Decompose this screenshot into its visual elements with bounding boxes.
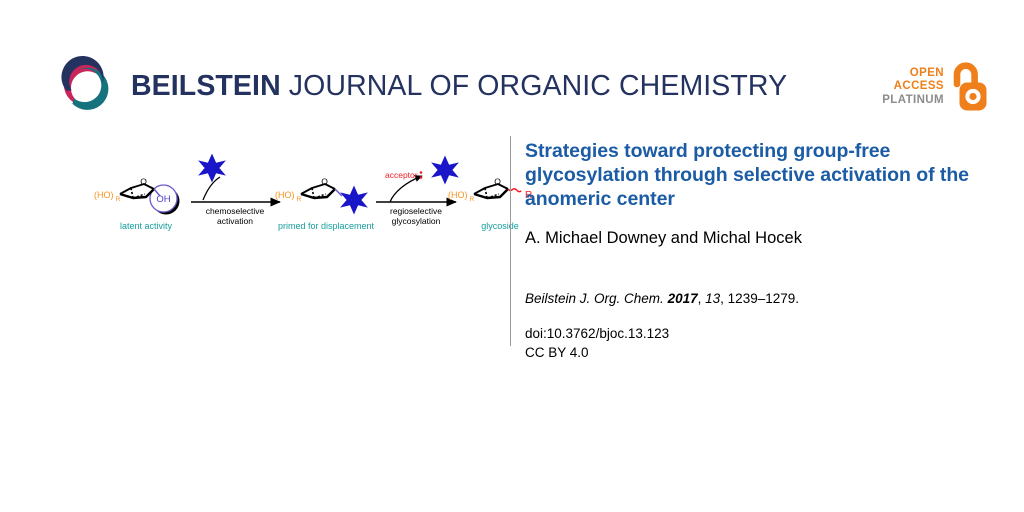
open-lock-icon bbox=[950, 61, 990, 113]
citation-sep-1: , bbox=[698, 291, 706, 306]
svg-text:O: O bbox=[140, 177, 147, 187]
svg-text:R: R bbox=[116, 196, 121, 203]
arrow-chemoselective-activation: chemoselective activation bbox=[191, 154, 280, 226]
svg-text:activation: activation bbox=[217, 216, 253, 226]
svg-text:O: O bbox=[494, 177, 501, 187]
svg-text:(HO): (HO) bbox=[275, 190, 295, 200]
article-authors[interactable]: A. Michael Downey and Michal Hocek bbox=[525, 228, 985, 249]
beilstein-circles-logo-icon bbox=[55, 55, 117, 117]
article-meta: Strategies toward protecting group-free … bbox=[525, 140, 985, 362]
svg-text:R: R bbox=[470, 196, 475, 203]
journal-wordmark: BEILSTEIN JOURNAL OF ORGANIC CHEMISTRY bbox=[131, 72, 787, 101]
svg-text:latent activity: latent activity bbox=[120, 221, 173, 231]
svg-text:(HO): (HO) bbox=[448, 190, 468, 200]
svg-text:chemoselective: chemoselective bbox=[206, 206, 265, 216]
svg-text:acceptor: acceptor bbox=[385, 170, 418, 180]
masthead: BEILSTEIN JOURNAL OF ORGANIC CHEMISTRY O… bbox=[0, 0, 1024, 132]
open-access-line-access: ACCESS bbox=[882, 80, 944, 93]
open-access-line-platinum: PLATINUM bbox=[882, 94, 944, 107]
content-divider bbox=[510, 136, 511, 346]
journal-wordmark-strong: BEILSTEIN bbox=[131, 70, 281, 102]
open-access-badge[interactable]: OPEN ACCESS PLATINUM bbox=[882, 58, 990, 116]
article-title[interactable]: Strategies toward protecting group-free … bbox=[525, 140, 985, 211]
citation-volume: 13 bbox=[705, 291, 720, 306]
article-license[interactable]: CC BY 4.0 bbox=[525, 343, 985, 362]
citation-pages: 1239–1279. bbox=[728, 291, 799, 306]
structure-primed-for-displacement: O (HO) R primed for displacement bbox=[275, 177, 375, 232]
article-citation: Beilstein J. Org. Chem. 2017, 13, 1239–1… bbox=[525, 290, 985, 308]
svg-text:R: R bbox=[297, 196, 302, 203]
svg-text:primed for displacement: primed for displacement bbox=[278, 221, 375, 231]
arrow-regioselective-glycosylation: acceptor regioselective glycosylation bbox=[376, 156, 459, 227]
graphical-abstract: O (HO) R OH latent activity chemoselecti… bbox=[88, 154, 538, 254]
svg-text:regioselective: regioselective bbox=[390, 206, 442, 216]
journal-logo[interactable]: BEILSTEIN JOURNAL OF ORGANIC CHEMISTRY bbox=[55, 56, 787, 116]
structure-latent-activity: O (HO) R OH latent activity bbox=[94, 177, 180, 232]
article-doi[interactable]: doi:10.3762/bjoc.13.123 bbox=[525, 324, 985, 343]
svg-text:O: O bbox=[321, 177, 328, 187]
svg-text:glycosylation: glycosylation bbox=[392, 216, 441, 226]
svg-text:(HO): (HO) bbox=[94, 190, 114, 200]
svg-text:glycoside: glycoside bbox=[481, 221, 519, 231]
structure-glycoside: O R (HO) R glycoside bbox=[448, 177, 532, 232]
open-access-line-open: OPEN bbox=[882, 67, 944, 80]
citation-year: 2017 bbox=[668, 291, 698, 306]
citation-journal: Beilstein J. Org. Chem. bbox=[525, 291, 664, 306]
open-access-label: OPEN ACCESS PLATINUM bbox=[882, 67, 944, 107]
citation-sep-2: , bbox=[720, 291, 728, 306]
svg-text:OH: OH bbox=[156, 194, 170, 205]
reaction-scheme-diagram: O (HO) R OH latent activity chemoselecti… bbox=[88, 154, 538, 254]
journal-wordmark-light: JOURNAL OF ORGANIC CHEMISTRY bbox=[281, 70, 787, 102]
